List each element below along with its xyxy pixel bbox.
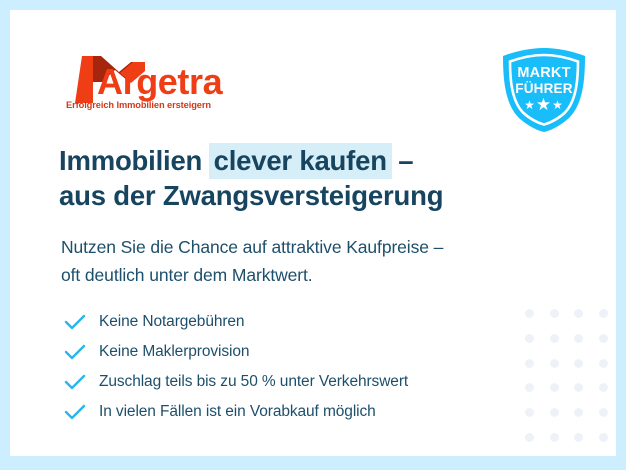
star-icon-right: ★	[552, 98, 564, 112]
logo-wordmark: Argetra	[97, 62, 222, 102]
page-title: Immobilien clever kaufen – aus der Zwang…	[59, 143, 579, 213]
dot-decoration	[599, 334, 608, 343]
dot-decoration	[550, 334, 559, 343]
subheadline-line-2: oft deutlich unter dem Marktwert.	[61, 261, 581, 289]
list-item-label: In vielen Fällen ist ein Vorabkauf mögli…	[99, 403, 376, 421]
outer-frame: Argetra Erfolgreich Immobilien ersteiger…	[0, 0, 626, 470]
argetra-logo[interactable]: Argetra Erfolgreich Immobilien ersteiger…	[65, 48, 265, 120]
check-icon	[64, 374, 86, 390]
check-icon	[64, 344, 86, 360]
benefits-list: Keine Notargebühren Keine Maklerprovisio…	[64, 307, 534, 427]
badge-line-2: FÜHRER	[499, 81, 589, 96]
market-leader-badge: MARKT FÜHRER ★★★	[499, 46, 589, 134]
badge-text-block: MARKT FÜHRER	[499, 66, 589, 96]
dot-pattern-decoration	[525, 309, 616, 456]
dot-decoration	[574, 433, 583, 442]
badge-stars: ★★★	[499, 98, 589, 112]
list-item: In vielen Fällen ist ein Vorabkauf mögli…	[64, 397, 534, 427]
dot-decoration	[550, 359, 559, 368]
dot-decoration	[574, 359, 583, 368]
dot-decoration	[550, 383, 559, 392]
headline-line-1: Immobilien clever kaufen –	[59, 143, 579, 178]
dot-decoration	[574, 309, 583, 318]
star-icon-left: ★	[524, 98, 536, 112]
headline-part-before: Immobilien	[59, 145, 210, 176]
dot-decoration	[550, 433, 559, 442]
list-item-label: Keine Maklerprovision	[99, 343, 249, 361]
dot-decoration	[599, 309, 608, 318]
subheadline-line-1: Nutzen Sie die Chance auf attraktive Kau…	[61, 233, 581, 261]
dot-decoration	[599, 359, 608, 368]
list-item: Keine Notargebühren	[64, 307, 534, 337]
headline-highlight: clever kaufen	[209, 143, 392, 179]
dot-decoration	[599, 383, 608, 392]
badge-line-1: MARKT	[499, 66, 589, 81]
dot-decoration	[574, 383, 583, 392]
subheadline: Nutzen Sie die Chance auf attraktive Kau…	[61, 233, 581, 289]
dot-decoration	[525, 433, 534, 442]
promo-card: Argetra Erfolgreich Immobilien ersteiger…	[10, 10, 616, 456]
dot-decoration	[550, 408, 559, 417]
dot-decoration	[550, 309, 559, 318]
dot-decoration	[574, 334, 583, 343]
dot-decoration	[574, 408, 583, 417]
list-item-label: Zuschlag teils bis zu 50 % unter Verkehr…	[99, 373, 408, 391]
list-item-label: Keine Notargebühren	[99, 313, 244, 331]
star-icon-center: ★	[536, 95, 552, 114]
check-icon	[64, 404, 86, 420]
check-icon	[64, 314, 86, 330]
list-item: Zuschlag teils bis zu 50 % unter Verkehr…	[64, 367, 534, 397]
list-item: Keine Maklerprovision	[64, 337, 534, 367]
dot-decoration	[599, 408, 608, 417]
headline-part-after: –	[391, 145, 414, 176]
headline-line-2: aus der Zwangsversteigerung	[59, 178, 579, 213]
dot-decoration	[599, 433, 608, 442]
logo-tagline: Erfolgreich Immobilien ersteigern	[66, 100, 211, 110]
